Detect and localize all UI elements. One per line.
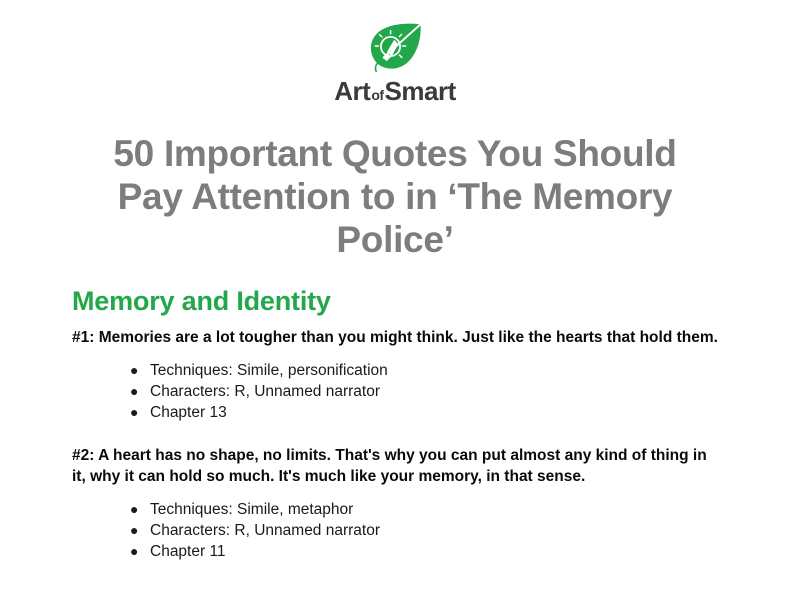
list-item: ● Characters: R, Unnamed narrator xyxy=(150,520,718,541)
quote-block: #1: Memories are a lot tougher than you … xyxy=(72,327,718,423)
document-page: Art of Smart 50 Important Quotes You Sho… xyxy=(0,0,790,609)
list-item: ● Chapter 13 xyxy=(150,402,718,423)
quote-meta-list: ● Techniques: Simile, personification ● … xyxy=(72,360,718,423)
list-item-label: Characters: R, Unnamed narrator xyxy=(150,383,380,400)
list-item-label: Chapter 11 xyxy=(150,543,226,560)
quote-text: #2: A heart has no shape, no limits. Tha… xyxy=(72,445,718,487)
bullet-icon: ● xyxy=(130,520,138,541)
list-item-label: Chapter 13 xyxy=(150,404,227,421)
bullet-icon: ● xyxy=(130,541,138,562)
logo-word-smart: Smart xyxy=(385,78,456,104)
logo-word-art: Art xyxy=(334,78,370,104)
logo-wordmark: Art of Smart xyxy=(334,78,455,104)
list-item: ● Chapter 11 xyxy=(150,541,718,562)
quote-meta-list: ● Techniques: Simile, metaphor ● Charact… xyxy=(72,499,718,562)
bullet-icon: ● xyxy=(130,499,138,520)
quote-block: #2: A heart has no shape, no limits. Tha… xyxy=(72,445,718,562)
list-item: ● Techniques: Simile, personification xyxy=(150,360,718,381)
list-item-label: Techniques: Simile, metaphor xyxy=(150,501,353,518)
list-item-label: Characters: R, Unnamed narrator xyxy=(150,522,380,539)
bullet-icon: ● xyxy=(130,381,138,402)
list-item-label: Techniques: Simile, personification xyxy=(150,362,388,379)
list-item: ● Techniques: Simile, metaphor xyxy=(150,499,718,520)
leaf-lightbulb-logo-icon xyxy=(364,22,426,76)
quote-text: #1: Memories are a lot tougher than you … xyxy=(72,327,718,348)
page-title: 50 Important Quotes You Should Pay Atten… xyxy=(90,132,700,261)
article-content: Memory and Identity #1: Memories are a l… xyxy=(0,285,790,562)
list-item: ● Characters: R, Unnamed narrator xyxy=(150,381,718,402)
logo-word-of: of xyxy=(370,88,384,102)
bullet-icon: ● xyxy=(130,402,138,423)
section-heading-memory-and-identity: Memory and Identity xyxy=(72,285,718,317)
site-logo: Art of Smart xyxy=(0,0,790,104)
bullet-icon: ● xyxy=(130,360,138,381)
